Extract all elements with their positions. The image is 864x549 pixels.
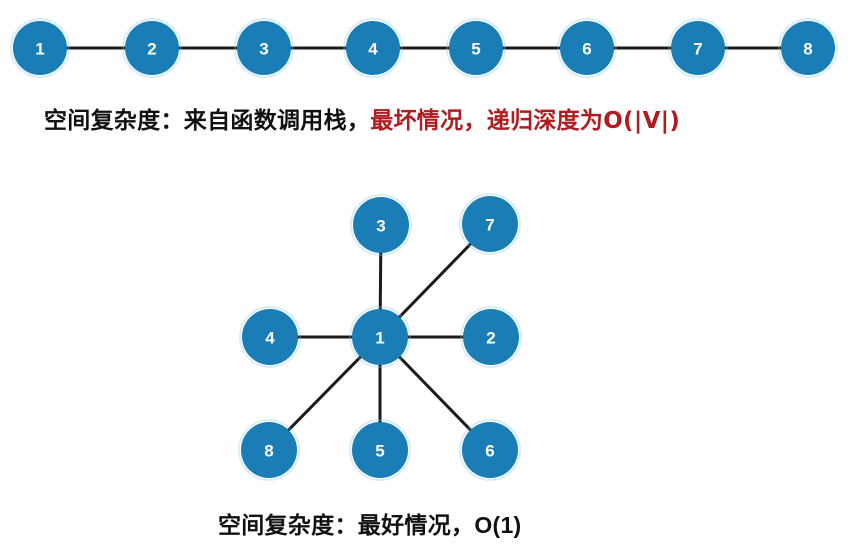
node-circle[interactable] (781, 21, 835, 75)
graph-node-star-graph-7[interactable]: 7 (460, 194, 520, 254)
node-halo-ring (351, 195, 411, 255)
node-circle[interactable] (125, 21, 179, 75)
node-label: 1 (375, 329, 384, 348)
node-halo-ring (460, 420, 520, 480)
graph-node-star-graph-1[interactable]: 1 (350, 307, 410, 367)
node-label: 4 (265, 329, 275, 348)
graph-node-star-graph-4[interactable]: 4 (240, 307, 300, 367)
node-circle[interactable] (462, 422, 518, 478)
graph-node-star-graph-5[interactable]: 5 (350, 420, 410, 480)
node-halo-ring (344, 19, 402, 77)
node-circle[interactable] (671, 21, 725, 75)
graph-node-star-graph-3[interactable]: 3 (351, 195, 411, 255)
node-halo-ring (239, 420, 299, 480)
caption-worst-case: 空间复杂度：来自函数调用栈，最坏情况，递归深度为O(|V|) (44, 101, 680, 135)
node-halo-ring (123, 19, 181, 77)
node-circle[interactable] (242, 309, 298, 365)
graph-node-path-graph-7[interactable]: 7 (669, 19, 727, 77)
node-label: 2 (147, 40, 156, 59)
node-label: 8 (264, 442, 273, 461)
node-halo-ring (461, 307, 521, 367)
node-circle[interactable] (353, 197, 409, 253)
graph-node-path-graph-4[interactable]: 4 (344, 19, 402, 77)
caption-top-red: 最坏情况，递归深度为O(|V|) (370, 108, 680, 134)
node-circle[interactable] (560, 21, 614, 75)
node-circle[interactable] (237, 21, 291, 75)
node-label: 4 (368, 40, 378, 59)
nodes-group: 1234567813742856 (11, 19, 837, 480)
node-label: 5 (471, 40, 480, 59)
caption-bottom-black: 空间复杂度：最好情况， (218, 513, 474, 539)
graph-edge-1-8 (288, 356, 361, 430)
node-circle[interactable] (352, 422, 408, 478)
caption-best-case: 空间复杂度：最好情况，O(1) (218, 506, 522, 540)
node-label: 1 (35, 40, 44, 59)
node-label: 6 (582, 40, 591, 59)
graph-node-path-graph-5[interactable]: 5 (447, 19, 505, 77)
node-halo-ring (460, 194, 520, 254)
graph-node-star-graph-2[interactable]: 2 (461, 307, 521, 367)
node-label: 5 (375, 442, 384, 461)
caption-bottom-formula: O(1) (474, 512, 521, 538)
node-circle[interactable] (449, 21, 503, 75)
node-label: 6 (485, 442, 494, 461)
node-halo-ring (235, 19, 293, 77)
node-circle[interactable] (352, 309, 408, 365)
graph-edge-1-3 (380, 252, 381, 310)
node-label: 3 (376, 217, 385, 236)
graph-edge-1-6 (399, 356, 471, 430)
graph-node-path-graph-8[interactable]: 8 (779, 19, 837, 77)
graph-render-layer: 1234567813742856 (0, 0, 864, 549)
graph-node-path-graph-1[interactable]: 1 (11, 19, 69, 77)
node-circle[interactable] (462, 196, 518, 252)
node-label: 7 (693, 40, 702, 59)
node-circle[interactable] (463, 309, 519, 365)
graph-node-star-graph-8[interactable]: 8 (239, 420, 299, 480)
node-circle[interactable] (346, 21, 400, 75)
node-halo-ring (11, 19, 69, 77)
graph-node-path-graph-2[interactable]: 2 (123, 19, 181, 77)
graph-node-path-graph-6[interactable]: 6 (558, 19, 616, 77)
node-label: 3 (259, 40, 268, 59)
graph-node-star-graph-6[interactable]: 6 (460, 420, 520, 480)
node-halo-ring (350, 420, 410, 480)
node-halo-ring (558, 19, 616, 77)
diagram-canvas: 1234567813742856 空间复杂度：来自函数调用栈，最坏情况，递归深度… (0, 0, 864, 549)
node-circle[interactable] (241, 422, 297, 478)
node-label: 7 (485, 216, 494, 235)
node-label: 8 (803, 40, 812, 59)
node-halo-ring (669, 19, 727, 77)
node-halo-ring (350, 307, 410, 367)
node-halo-ring (447, 19, 505, 77)
node-label: 2 (486, 329, 495, 348)
graph-edge-1-7 (399, 243, 471, 317)
graph-node-path-graph-3[interactable]: 3 (235, 19, 293, 77)
node-halo-ring (779, 19, 837, 77)
node-circle[interactable] (13, 21, 67, 75)
caption-top-black: 空间复杂度：来自函数调用栈， (44, 108, 370, 134)
node-halo-ring (240, 307, 300, 367)
